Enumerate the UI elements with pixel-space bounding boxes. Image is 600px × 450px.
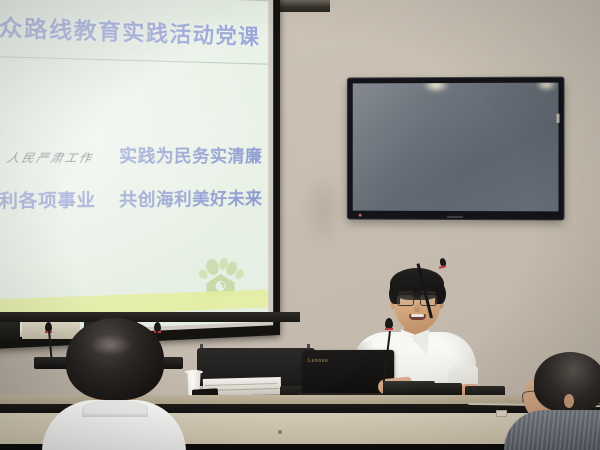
slide-row: 利各项事业 共创海利美好未来 — [0, 184, 262, 214]
projection-screen: 党的群众路线教育实践活动党课 人民严肃工作 实践为民务实清廉 利各项事业 共创海… — [0, 0, 280, 356]
slide-divider-line — [0, 52, 268, 65]
tv-screen — [353, 83, 559, 212]
audience-left-hair-highlight — [90, 334, 132, 356]
ledge-box — [0, 322, 20, 342]
slide-row: 人民严肃工作 实践为民务实清廉 — [0, 140, 262, 168]
laptop-brand-logo: Lenovo — [308, 358, 328, 364]
audience-member-right — [508, 352, 600, 450]
slide-title: 党的群众路线教育实践活动党课 — [0, 5, 260, 51]
audience-left-collar — [82, 400, 148, 417]
wall-mounted-tv — [348, 78, 564, 220]
eyeglasses-bridge — [414, 299, 420, 300]
audience-right-ear — [564, 394, 574, 408]
tv-brand-plate — [447, 216, 463, 218]
audience-left-hair — [66, 318, 164, 400]
wall-smudge — [300, 170, 346, 250]
audience-right-shoulder-shading — [504, 410, 600, 450]
tv-sheen — [353, 83, 559, 212]
presenter-teeth — [411, 314, 424, 317]
slide-row-right-text: 共创海利美好未来 — [119, 184, 262, 211]
slide-body: 人民严肃工作 实践为民务实清廉 利各项事业 共创海利美好未来 — [0, 140, 262, 215]
cable-clip — [496, 410, 507, 417]
table-screw — [278, 430, 282, 434]
microphone-ring — [385, 328, 393, 330]
eyeglasses-lens-left — [397, 295, 414, 306]
audience-member-left — [42, 318, 186, 450]
slide-row-right-text: 实践为民务实清廉 — [119, 141, 262, 167]
handwritten-signature: 人民严肃工作 — [5, 149, 95, 166]
tv-side-marker — [556, 114, 559, 123]
presentation-slide: 党的群众路线教育实践活动党课 人民严肃工作 实践为民务实清廉 利各项事业 共创海… — [0, 0, 268, 340]
conference-room-photo: 党的群众路线教育实践活动党课 人民严肃工作 实践为民务实清廉 利各项事业 共创海… — [0, 0, 600, 450]
slide-row-left-text: 利各项事业 — [0, 185, 96, 213]
tv-power-led-icon — [359, 214, 362, 217]
presenter-nose — [414, 303, 420, 312]
